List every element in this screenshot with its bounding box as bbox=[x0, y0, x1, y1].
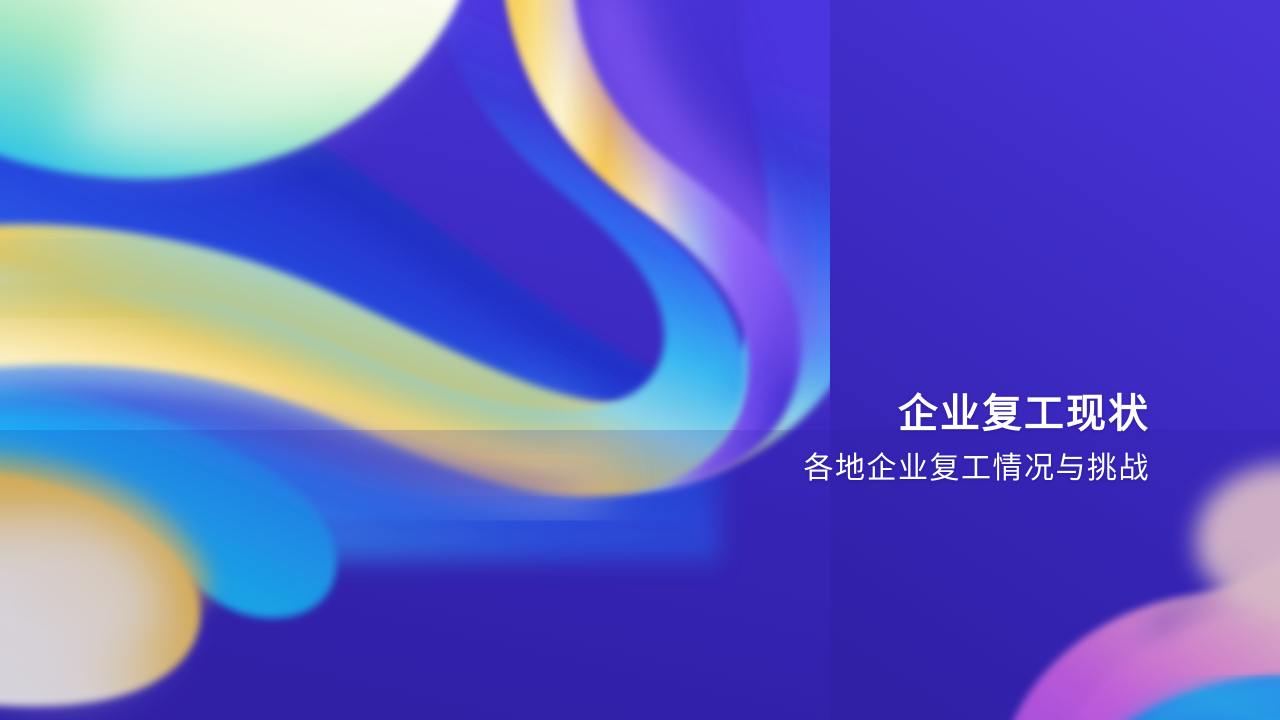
presentation-slide: 企业复工现状 各地企业复工情况与挑战 bbox=[0, 0, 1280, 720]
page-subtitle: 各地企业复工情况与挑战 bbox=[530, 451, 1150, 487]
abstract-gradient-background bbox=[0, 0, 1280, 720]
title-text-block: 企业复工现状 各地企业复工情况与挑战 bbox=[530, 392, 1150, 487]
page-title: 企业复工现状 bbox=[530, 392, 1150, 437]
